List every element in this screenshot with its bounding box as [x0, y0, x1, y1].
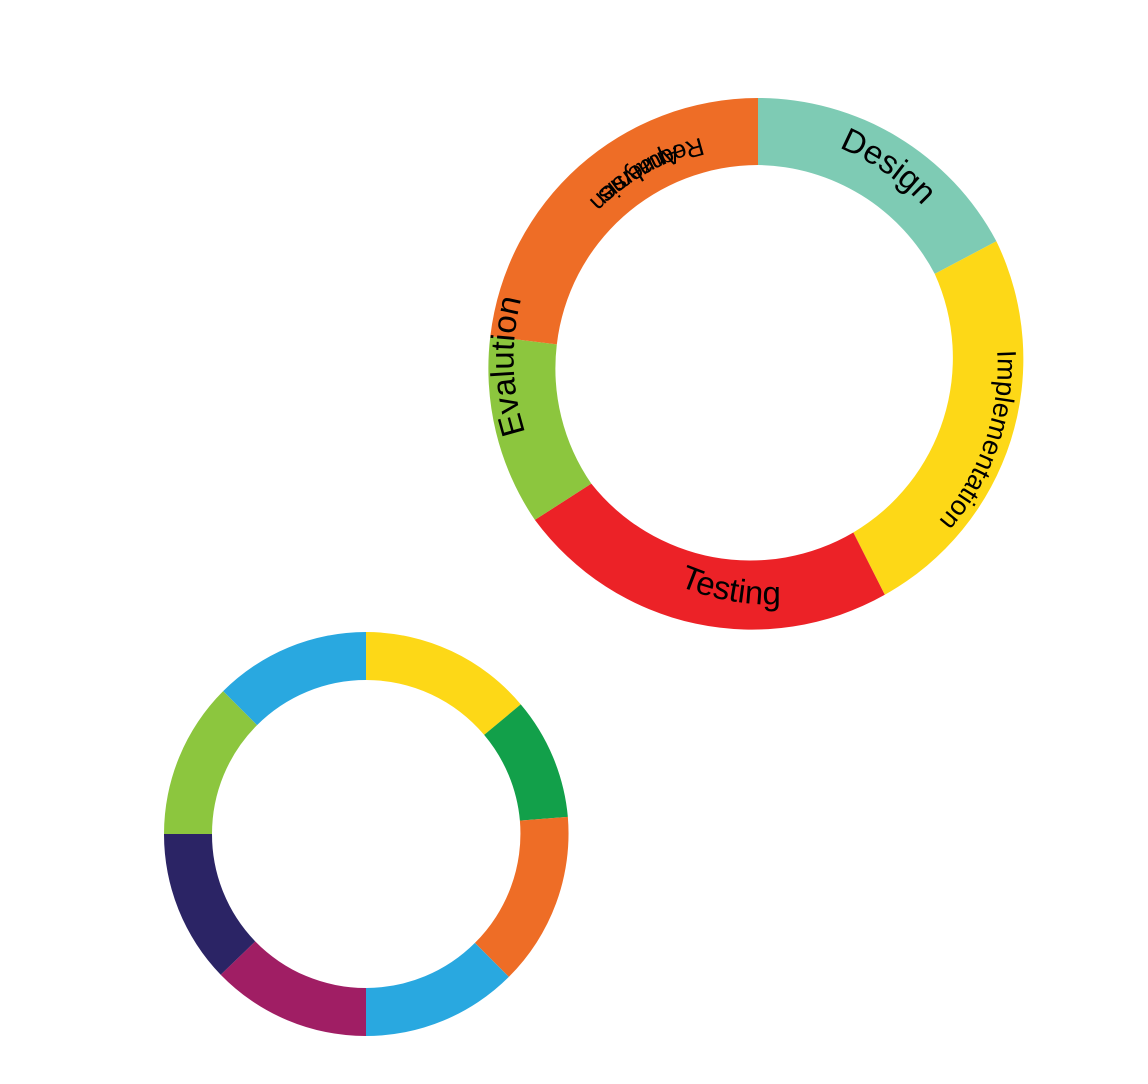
wheel-segment-7[interactable]	[164, 691, 257, 834]
wheel-segment-1[interactable]	[366, 632, 521, 735]
wheel-segment-3[interactable]	[475, 817, 569, 977]
infographic-canvas: Requrement Analysis Design Implementatio…	[0, 0, 1148, 1084]
sdlc-phase-donut-chart: Requrement Analysis Design Implementatio…	[488, 98, 1028, 638]
wheel-segment-6[interactable]	[164, 834, 255, 975]
wheel-segment-4[interactable]	[366, 943, 509, 1036]
donut-center-caption	[588, 272, 968, 278]
wheel-segment-5[interactable]	[221, 941, 366, 1036]
donut-segment-design[interactable]	[758, 98, 996, 274]
color-wheel-donut-chart	[164, 632, 568, 1036]
donut-segment-testing[interactable]	[535, 484, 885, 630]
wheel-segment-8[interactable]	[223, 632, 366, 725]
title-block	[104, 18, 664, 22]
donut-segment-requirement-analysis[interactable]	[490, 98, 758, 344]
